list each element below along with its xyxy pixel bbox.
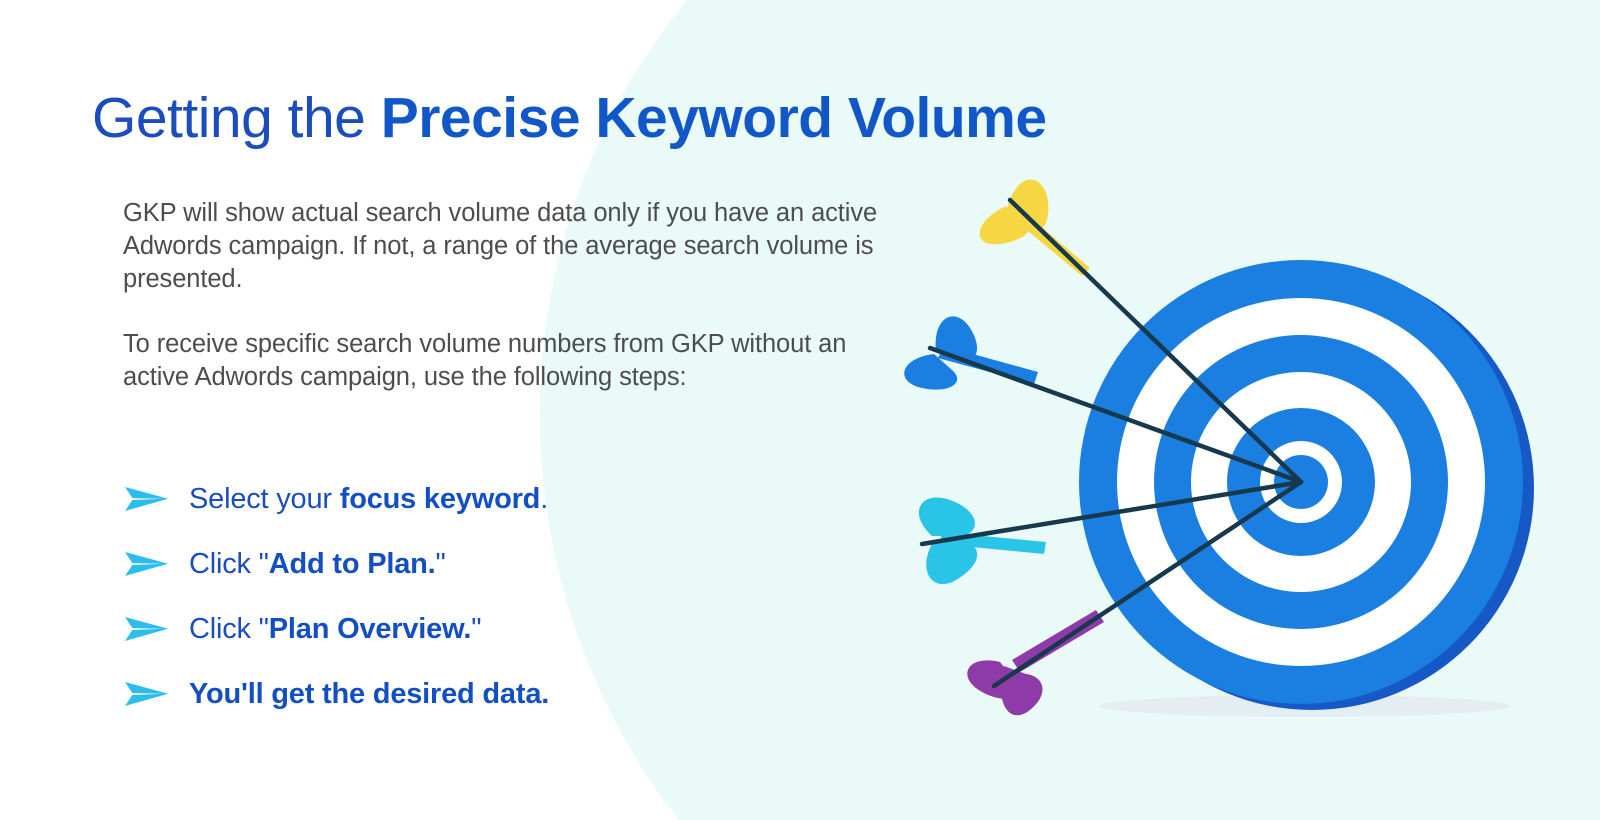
page-title-light: Getting the — [92, 86, 381, 150]
list-item-label: Select your focus keyword. — [189, 482, 548, 516]
list-item-label: Click "Add to Plan." — [189, 547, 446, 581]
list-item-label: You'll get the desired data. — [189, 677, 549, 711]
page-title-bold: Precise Keyword Volume — [381, 86, 1047, 150]
paper-plane-icon — [123, 547, 169, 581]
page-title: Getting the Precise Keyword Volume — [92, 83, 1047, 153]
list-item-label: Click "Plan Overview." — [189, 612, 481, 646]
step-tail: . — [540, 483, 548, 515]
list-item: Select your focus keyword. — [123, 466, 883, 531]
intro-paragraph-1: GKP will show actual search volume data … — [123, 197, 893, 296]
content-column: Getting the Precise Keyword Volume GKP w… — [0, 0, 930, 820]
list-item: Click "Plan Overview." — [123, 596, 883, 661]
list-item: Click "Add to Plan." — [123, 531, 883, 596]
slide-canvas: Getting the Precise Keyword Volume GKP w… — [0, 0, 1600, 820]
step-lead: Click " — [189, 548, 269, 580]
step-lead: Select your — [189, 483, 340, 515]
intro-paragraph-2: To receive specific search volume number… — [123, 328, 893, 394]
paper-plane-icon — [123, 677, 169, 711]
list-item: You'll get the desired data. — [123, 661, 883, 726]
step-lead: Click " — [189, 613, 269, 645]
step-emphasis: Add to Plan. — [269, 548, 436, 580]
steps-list: Select your focus keyword. Click "Add to… — [123, 466, 883, 726]
step-emphasis: focus keyword — [340, 483, 540, 515]
step-emphasis: Plan Overview. — [269, 613, 471, 645]
step-tail: " — [436, 548, 446, 580]
paper-plane-icon — [123, 482, 169, 516]
archery-target-graphic — [860, 140, 1600, 780]
step-tail: " — [471, 613, 481, 645]
paper-plane-icon — [123, 612, 169, 646]
step-emphasis: You'll get the desired data. — [189, 678, 549, 710]
